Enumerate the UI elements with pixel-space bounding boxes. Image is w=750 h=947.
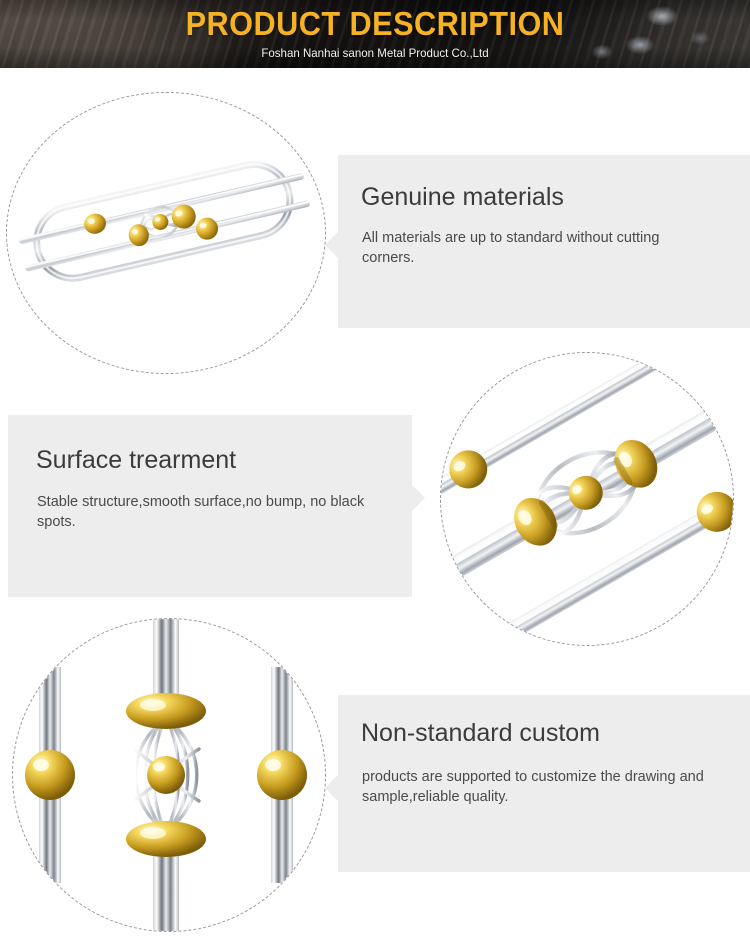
page-title: PRODUCT DESCRIPTION [26,6,724,42]
panel-pointer-icon [412,485,425,511]
product-photo-closeup [440,352,734,646]
feature-description: Stable structure,smooth surface,no bump,… [37,492,392,532]
feature-title: Surface trearment [36,445,236,475]
feature-title: Genuine materials [361,182,564,212]
panel-pointer-icon [325,232,338,258]
railing-illustration [7,93,325,373]
product-description-banner: PRODUCT DESCRIPTION Foshan Nanhai sanon … [0,0,750,68]
baluster-illustration [13,619,325,931]
feature-title: Non-standard custom [361,718,600,748]
feature-panel-surface-treatment: Surface trearment Stable structure,smoot… [8,415,412,597]
product-photo-railing [6,92,326,374]
feature-description: products are supported to customize the … [362,767,712,807]
cage-closeup-illustration [441,353,733,645]
feature-panel-non-standard-custom: Non-standard custom products are support… [338,695,750,872]
feature-panel-genuine-materials: Genuine materials All materials are up t… [338,155,750,328]
company-name: Foshan Nanhai sanon Metal Product Co.,Lt… [15,46,735,60]
feature-description: All materials are up to standard without… [362,228,712,268]
panel-pointer-icon [325,775,338,801]
product-photo-baluster [12,618,326,932]
